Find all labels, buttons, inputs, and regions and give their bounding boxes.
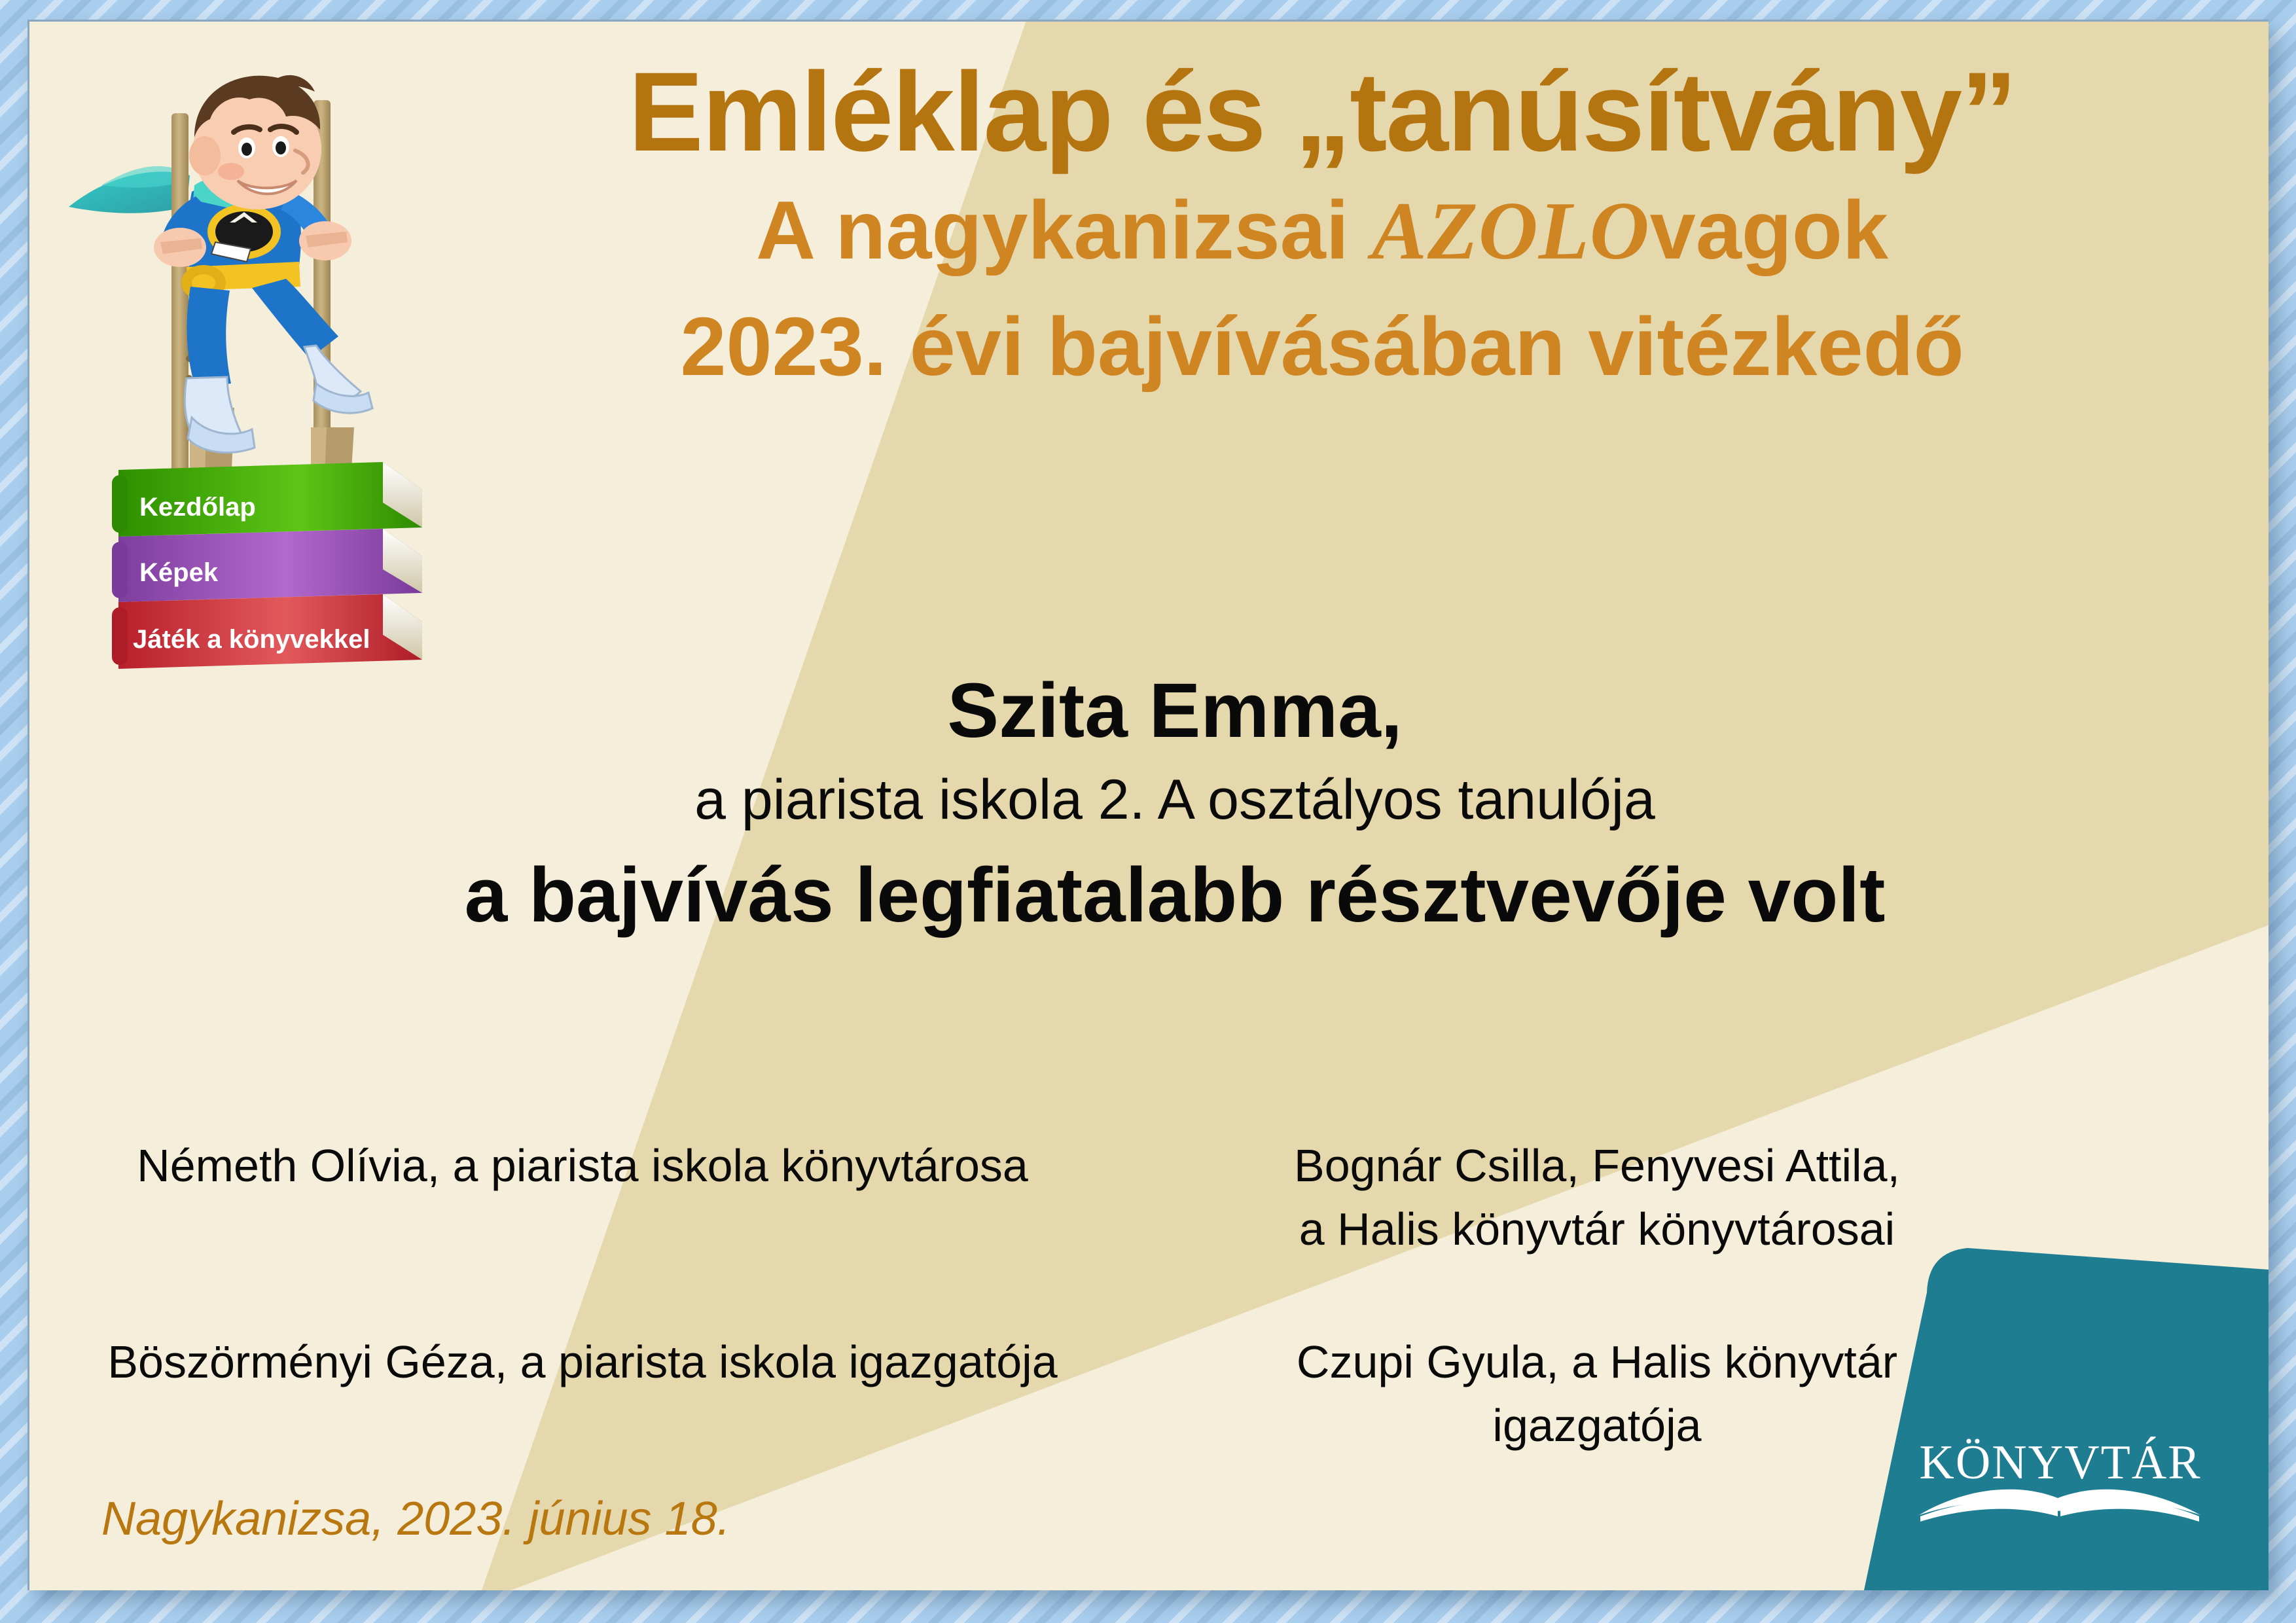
signature-line-1: Bognár Csilla, Fenyvesi Attila, bbox=[1116, 1134, 2078, 1198]
subtitle-suffix: vagok bbox=[1650, 184, 1888, 276]
recipient-block: Szita Emma, a piarista iskola 2. A osztá… bbox=[226, 666, 2124, 945]
subtitle-line-1: A nagykanizsai AZOLOvagok bbox=[396, 172, 2248, 291]
library-logo: KÖNYVTÁR bbox=[1850, 1234, 2269, 1590]
signature-line-1: Németh Olívia, a piarista iskola könyvtá… bbox=[101, 1134, 1064, 1198]
signature-line-1: Böszörményi Géza, a piarista iskola igaz… bbox=[101, 1330, 1064, 1394]
recipient-award: a bajvívás legfiatalabb résztvevője volt bbox=[226, 846, 2124, 945]
book-stack: Kezdőlap Képek Játék a könyvekke bbox=[112, 462, 422, 669]
book-label-3: Játék a könyvekkel bbox=[133, 625, 370, 654]
certificate-header: Emléklap és „tanúsítvány” A nagykanizsai… bbox=[396, 52, 2248, 402]
certificate-page: Kezdőlap Képek Játék a könyvekke bbox=[0, 0, 2296, 1623]
book-kezdolap: Kezdőlap bbox=[112, 462, 422, 537]
signature-school-director: Böszörményi Géza, a piarista iskola igaz… bbox=[75, 1330, 1090, 1457]
subtitle-line-2: 2023. évi bajvívásában vitézkedő bbox=[396, 291, 2248, 402]
date-line: Nagykanizsa, 2023. június 18. bbox=[101, 1492, 730, 1546]
recipient-class: a piarista iskola 2. A osztályos tanulój… bbox=[226, 760, 2124, 840]
subtitle-emphasis: AZOLO bbox=[1372, 186, 1650, 277]
certificate-card: Kezdőlap Képek Játék a könyvekke bbox=[27, 20, 2269, 1590]
book-label-1: Kezdőlap bbox=[139, 493, 256, 522]
logo-wordmark: KÖNYVTÁR bbox=[1919, 1436, 2201, 1489]
subtitle-prefix: A nagykanizsai bbox=[756, 184, 1372, 276]
signature-grid: Németh Olívia, a piarista iskola könyvtá… bbox=[75, 1134, 2104, 1457]
book-kepek: Képek bbox=[112, 529, 422, 602]
page-title: Emléklap és „tanúsítvány” bbox=[396, 52, 2248, 172]
book-jatek: Játék a könyvekkel bbox=[112, 594, 422, 669]
signature-school-librarian: Németh Olívia, a piarista iskola könyvtá… bbox=[75, 1134, 1090, 1330]
book-label-2: Képek bbox=[139, 558, 219, 587]
recipient-name: Szita Emma, bbox=[226, 666, 2124, 756]
